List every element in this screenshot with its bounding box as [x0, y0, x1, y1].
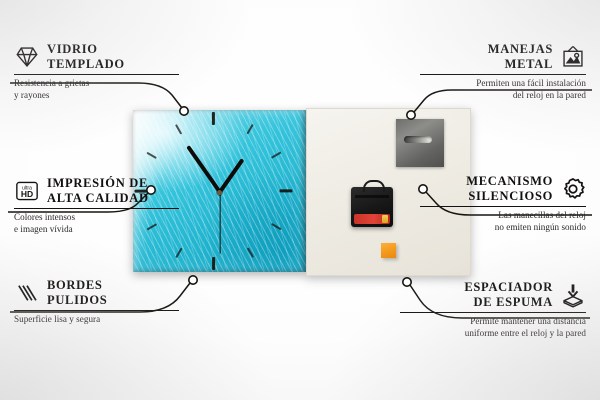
feature-title: MECANISMOSILENCIOSO [466, 174, 553, 203]
feature-title: IMPRESIÓN DEALTA CALIDAD [47, 176, 149, 205]
feature-subtitle: Resistencia a grietasy rayones [14, 78, 179, 102]
feature-rule [400, 312, 586, 313]
diamond-icon [14, 44, 40, 70]
polished-edges-icon [14, 280, 40, 306]
feature-espaciador-espuma: ESPACIADORDE ESPUMA Permite mantener una… [400, 280, 586, 340]
silent-quartz-mechanism [351, 187, 393, 227]
feature-rule [420, 206, 586, 207]
feature-impresion-alta-calidad: ultra HD IMPRESIÓN DEALTA CALIDAD Colore… [14, 176, 179, 236]
clock-tick [279, 189, 292, 192]
mechanism-seam [355, 195, 389, 198]
feature-rule [14, 208, 179, 209]
feature-title: ESPACIADORDE ESPUMA [464, 280, 553, 309]
feature-header: BORDESPULIDOS [14, 278, 179, 307]
feature-header: VIDRIOTEMPLADO [14, 42, 179, 71]
infographic-canvas: VIDRIOTEMPLADO Resistencia a grietasy ra… [0, 0, 600, 400]
node-bordes [189, 276, 197, 284]
picture-frame-icon [560, 44, 586, 70]
battery-compartment [354, 214, 390, 224]
feature-title: VIDRIOTEMPLADO [47, 42, 125, 71]
feature-rule [14, 74, 179, 75]
orange-foam-spacer [381, 243, 396, 258]
feature-rule [420, 74, 586, 75]
feature-manejas-metal: MANEJASMETAL Permiten una fácil instalac… [420, 42, 586, 102]
ultra-hd-icon: ultra HD [14, 178, 40, 204]
feature-subtitle: Permiten una fácil instalacióndel reloj … [420, 78, 586, 102]
feature-header: MANEJASMETAL [420, 42, 586, 71]
feature-mecanismo-silencioso: MECANISMOSILENCIOSO Las manecillas del r… [420, 174, 586, 234]
foam-spacer-icon [560, 282, 586, 308]
clock-second-hand [219, 192, 220, 254]
feature-header: MECANISMOSILENCIOSO [420, 174, 586, 203]
feature-title: MANEJASMETAL [488, 42, 553, 71]
hanger-loop [363, 180, 385, 192]
clock-tick [211, 112, 214, 125]
metal-hanger-plate [396, 119, 444, 167]
feature-title: BORDESPULIDOS [47, 278, 107, 307]
feature-vidrio-templado: VIDRIOTEMPLADO Resistencia a grietasy ra… [14, 42, 179, 102]
feature-rule [14, 310, 179, 311]
gear-icon [560, 176, 586, 202]
feature-subtitle: Colores intensose imagen vívida [14, 212, 179, 236]
feature-header: ESPACIADORDE ESPUMA [400, 280, 586, 309]
feature-subtitle: Las manecillas del relojno emiten ningún… [420, 210, 586, 234]
clock-tick [211, 257, 214, 270]
feature-header: ultra HD IMPRESIÓN DEALTA CALIDAD [14, 176, 179, 205]
feature-subtitle: Permite mantener una distanciauniforme e… [400, 316, 586, 340]
clock-center-hub [217, 190, 222, 195]
feature-bordes-pulidos: BORDESPULIDOS Superficie lisa y segura [14, 278, 179, 326]
feature-subtitle: Superficie lisa y segura [14, 314, 179, 326]
svg-text:HD: HD [21, 189, 33, 199]
hanger-slot [404, 136, 432, 143]
